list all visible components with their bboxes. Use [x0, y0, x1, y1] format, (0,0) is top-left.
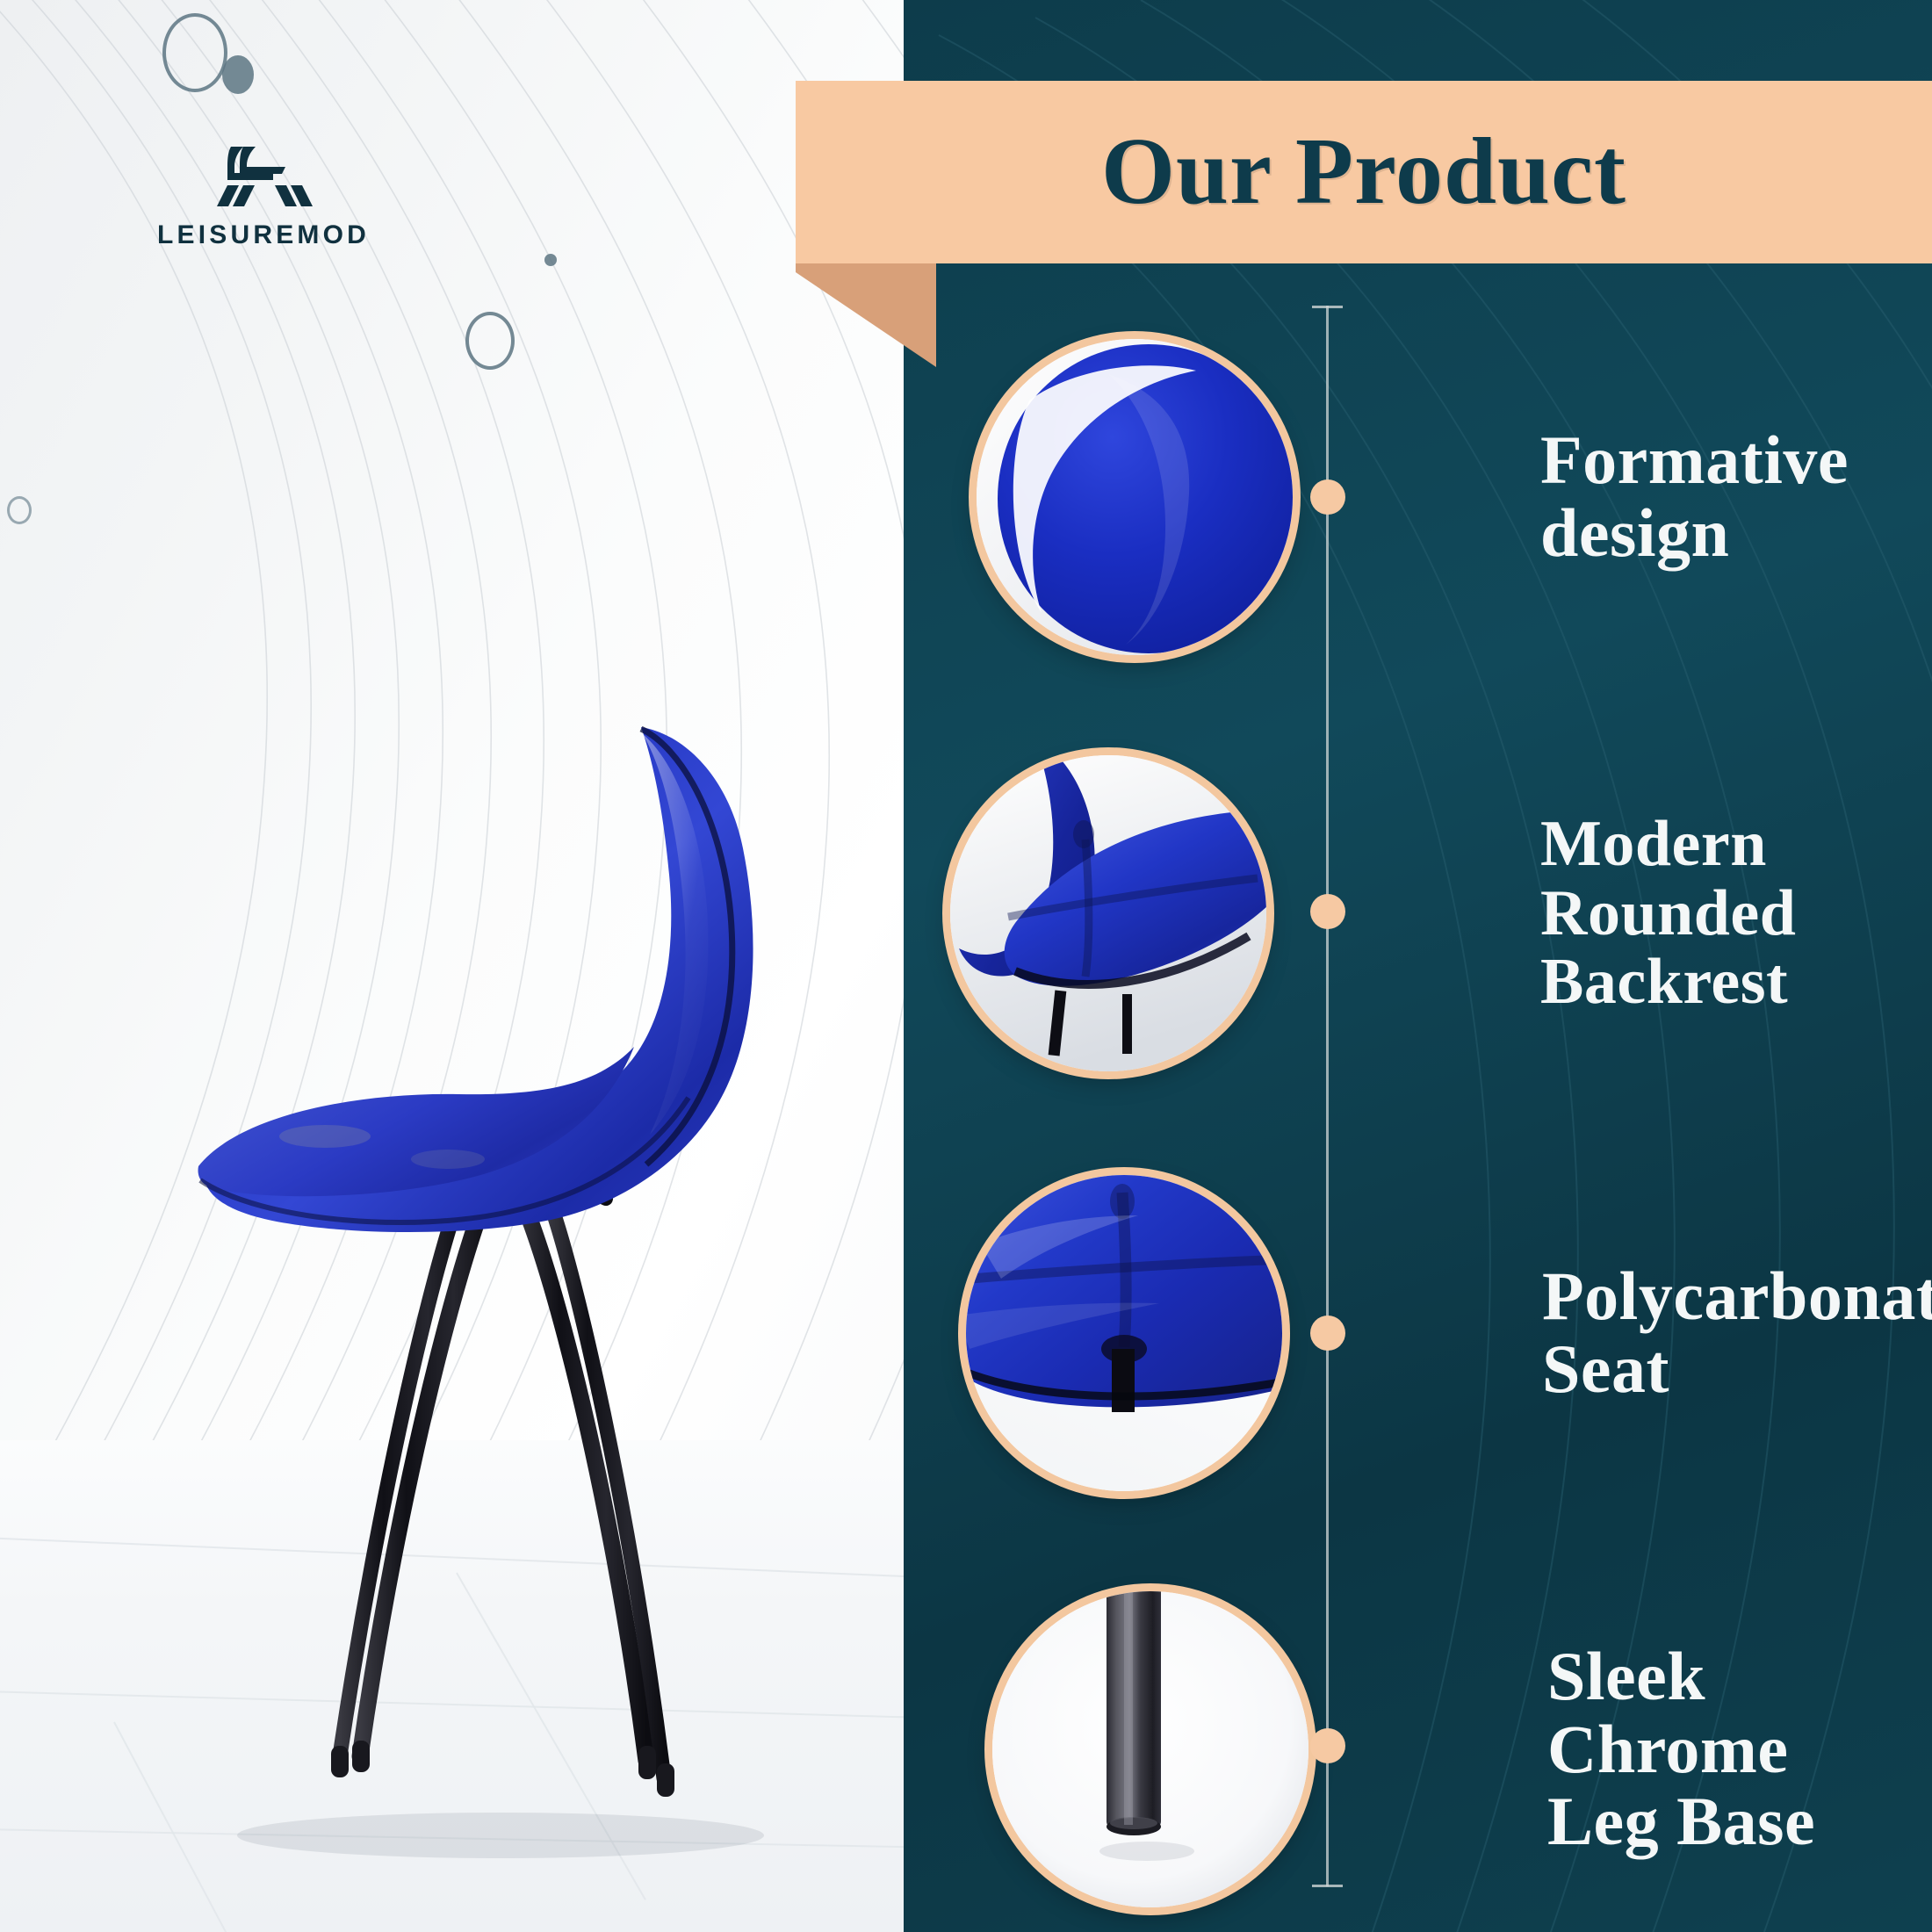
chrome-leg-closeup-icon [992, 1591, 1308, 1907]
feature-thumb-3[interactable] [966, 1175, 1282, 1491]
connector-dot-2 [1310, 894, 1345, 929]
chair-seat-backrest-closeup-icon [950, 755, 1266, 1071]
feature-label-1: Formative design [1540, 424, 1849, 569]
chair-illustration [149, 720, 817, 1879]
feature-label-2: Modern Rounded Backrest [1540, 810, 1796, 1016]
page-title: Our Product [796, 81, 1932, 263]
chair-backrest-front-closeup-icon [977, 339, 1293, 655]
feature-thumb-4[interactable] [992, 1591, 1308, 1907]
feature-label-4: Sleek Chrome Leg Base [1547, 1640, 1932, 1858]
brand-logo: LEISUREMOD [132, 145, 395, 250]
brand-name: LEISUREMOD [132, 220, 395, 250]
polycarbonate-seat-closeup-icon [966, 1175, 1282, 1491]
decorative-ring-icon [7, 496, 32, 524]
decorative-ring-icon [162, 13, 227, 92]
feature-row-3[interactable]: Polycarbonate Seat [966, 1175, 1932, 1491]
feature-row-4[interactable]: Sleek Chrome Leg Base [992, 1591, 1932, 1907]
connector-dot-3 [1310, 1316, 1345, 1351]
product-image-chair [149, 720, 817, 1879]
feature-row-2[interactable]: Modern Rounded Backrest [950, 755, 1796, 1071]
lounge-chair-logo-icon [212, 145, 315, 208]
product-photo-panel: LEISUREMOD [0, 0, 904, 1932]
feature-row-1[interactable]: Formative design [977, 339, 1849, 655]
feature-label-3: Polycarbonate Seat [1542, 1260, 1932, 1405]
decorative-dot-icon [222, 55, 254, 94]
decorative-dot-icon [544, 254, 557, 266]
banner-ribbon-fold [796, 263, 936, 367]
decorative-ring-icon [465, 312, 515, 370]
connector-top-cap [1312, 306, 1343, 308]
feature-thumb-1[interactable] [977, 339, 1293, 655]
connector-dot-4 [1310, 1728, 1345, 1763]
feature-thumb-2[interactable] [950, 755, 1266, 1071]
infographic-canvas: LEISUREMOD [0, 0, 1932, 1932]
connector-dot-1 [1310, 479, 1345, 515]
